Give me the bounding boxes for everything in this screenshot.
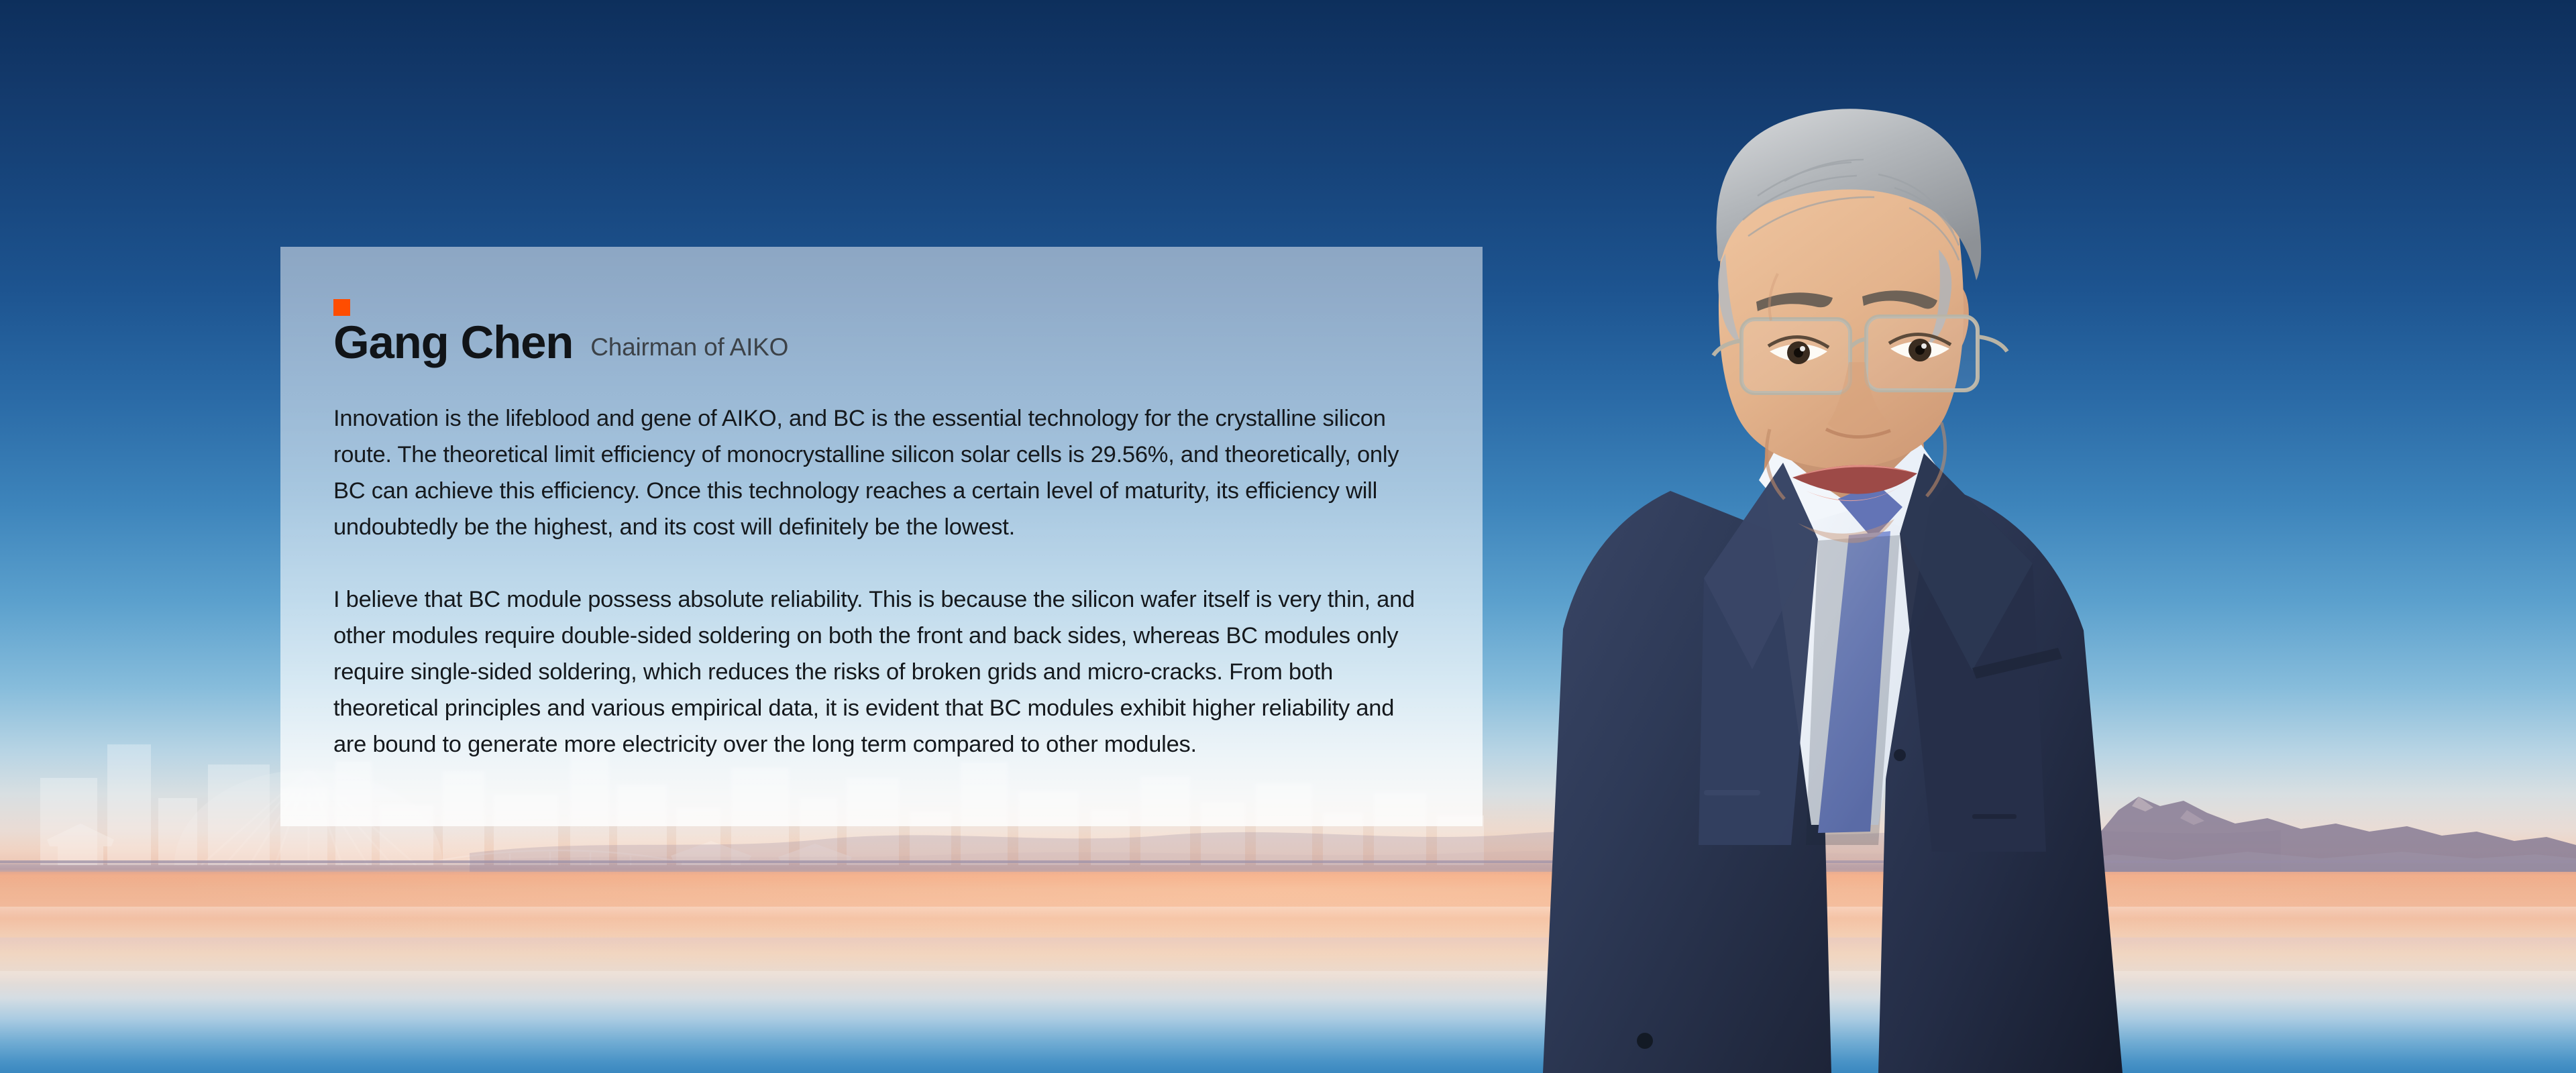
quote-body: Innovation is the lifeblood and gene of … [333, 400, 1429, 763]
quote-paragraph-2: I believe that BC module possess absolut… [333, 581, 1429, 763]
banner-stage: Gang Chen Chairman of AIKO Innovation is… [0, 0, 2576, 1073]
horizon-line [0, 860, 2576, 863]
orange-accent-square [333, 299, 350, 316]
quote-paragraph-1: Innovation is the lifeblood and gene of … [333, 400, 1429, 545]
speaker-name: Gang Chen [333, 319, 573, 365]
speaker-role: Chairman of AIKO [590, 335, 788, 359]
quote-card: Gang Chen Chairman of AIKO Innovation is… [280, 247, 1483, 826]
speaker-identity: Gang Chen Chairman of AIKO [333, 319, 1429, 365]
